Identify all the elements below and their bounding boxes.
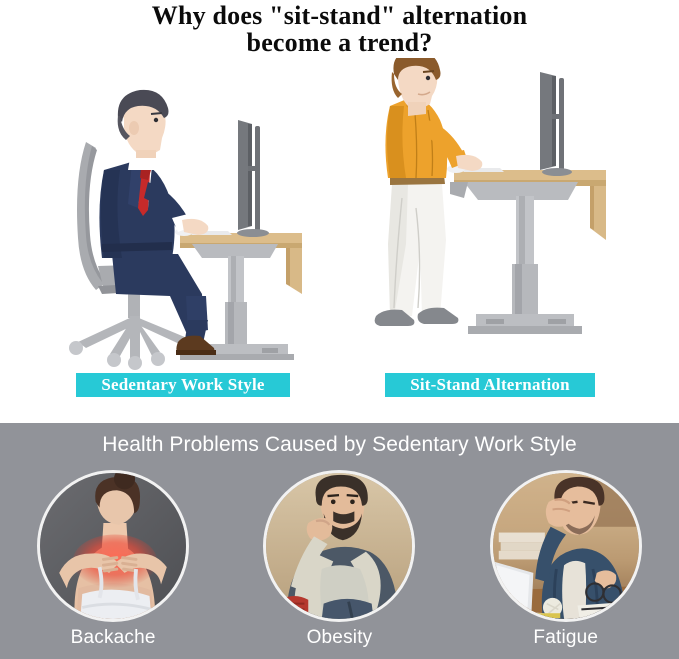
badge-sedentary-work-style: Sedentary Work Style: [76, 373, 290, 397]
seated-person: [99, 90, 216, 355]
monitor-standing: [540, 72, 572, 176]
backache-photo: [37, 470, 189, 622]
page-title-line1: Why does "sit-stand" alternation: [152, 1, 527, 30]
page-title-line2: become a trend?: [0, 29, 679, 56]
infographic-page: Why does "sit-stand" alternation become …: [0, 0, 679, 659]
illustration-row: [0, 58, 679, 370]
card-obesity: Obesity: [249, 470, 429, 650]
panel-heading: Health Problems Caused by Sedentary Work…: [0, 433, 679, 457]
card-backache: Backache: [23, 470, 203, 650]
obesity-photo: [263, 470, 415, 622]
card-fatigue: Fatigue: [476, 470, 656, 650]
health-problem-cards: Backache: [0, 470, 679, 659]
fatigue-photo: [490, 470, 642, 622]
monitor-sitting: [237, 120, 269, 237]
standing-person: [375, 58, 483, 326]
card-label-obesity: Obesity: [307, 626, 373, 650]
seated-worker-scene: [52, 58, 322, 370]
desk-standing: [450, 170, 606, 334]
badge-sit-stand-alternation: Sit-Stand Alternation: [385, 373, 595, 397]
card-label-fatigue: Fatigue: [533, 626, 598, 650]
health-problems-panel: Health Problems Caused by Sedentary Work…: [0, 423, 679, 659]
page-title: Why does "sit-stand" alternation become …: [0, 0, 679, 56]
standing-worker-scene: [368, 58, 638, 370]
card-label-backache: Backache: [71, 626, 156, 650]
